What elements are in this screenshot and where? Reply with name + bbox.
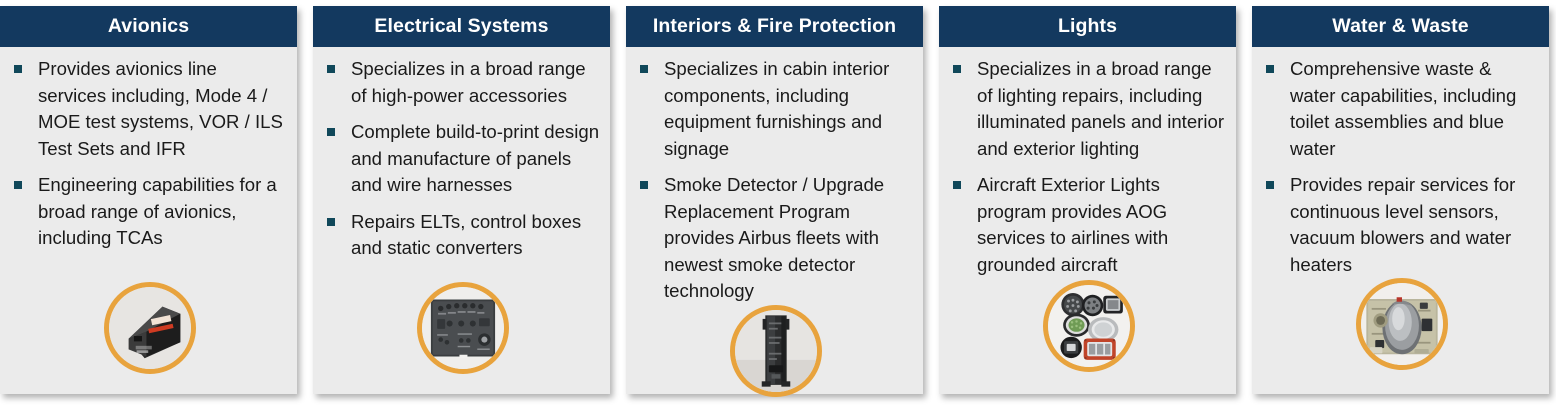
photo-clip bbox=[1048, 285, 1130, 367]
bullet-text: Complete build-to-print design and manuf… bbox=[351, 121, 599, 195]
bullet-text: Specializes in cabin interior components… bbox=[664, 58, 889, 159]
bullet-list: Specializes in a broad range of high-pow… bbox=[323, 56, 602, 262]
bullet-list: Specializes in a broad range of lighting… bbox=[949, 56, 1228, 278]
exterior-lights-illustration bbox=[1048, 285, 1130, 367]
card-photo-area bbox=[323, 282, 602, 394]
bullet-list: Specializes in cabin interior components… bbox=[636, 56, 915, 305]
bullet-text: Aircraft Exterior Lights program provide… bbox=[977, 174, 1168, 275]
square-bullet-icon bbox=[327, 65, 335, 73]
card-photo-area bbox=[10, 282, 289, 394]
photo-clip bbox=[109, 287, 191, 369]
vacuum-blower-illustration bbox=[1361, 283, 1443, 365]
square-bullet-icon bbox=[1266, 181, 1274, 189]
square-bullet-icon bbox=[327, 218, 335, 226]
square-bullet-icon bbox=[953, 65, 961, 73]
list-item: Repairs ELTs, control boxes and static c… bbox=[323, 209, 602, 262]
card-body-lights: Specializes in a broad range of lighting… bbox=[939, 47, 1236, 394]
bullet-text: Repairs ELTs, control boxes and static c… bbox=[351, 211, 581, 259]
card-body-interiors-fire-protection: Specializes in cabin interior components… bbox=[626, 47, 923, 417]
card-header-lights: Lights bbox=[939, 6, 1236, 47]
square-bullet-icon bbox=[14, 65, 22, 73]
bullet-text: Provides avionics line services includin… bbox=[38, 58, 283, 159]
smoke-detector-unit-photo bbox=[730, 305, 822, 397]
list-item: Specializes in a broad range of high-pow… bbox=[323, 56, 602, 109]
list-item: Complete build-to-print design and manuf… bbox=[323, 119, 602, 199]
card-photo-area bbox=[1262, 278, 1541, 394]
card-body-avionics: Provides avionics line services includin… bbox=[0, 47, 297, 394]
aircraft-exterior-lights-assortment-photo bbox=[1043, 280, 1135, 372]
card-title: Interiors & Fire Protection bbox=[653, 17, 896, 37]
capability-card-avionics: Avionics Provides avionics line services… bbox=[0, 6, 297, 394]
list-item: Comprehensive waste & water capabilities… bbox=[1262, 56, 1541, 162]
card-title: Avionics bbox=[108, 17, 189, 37]
square-bullet-icon bbox=[953, 181, 961, 189]
card-header-water-waste: Water & Waste bbox=[1252, 6, 1549, 47]
smoke-detector-illustration bbox=[735, 310, 817, 392]
square-bullet-icon bbox=[1266, 65, 1274, 73]
list-item: Smoke Detector / Upgrade Replacement Pro… bbox=[636, 172, 915, 305]
control-panel-illustration bbox=[422, 287, 504, 369]
capability-card-lights: Lights Specializes in a broad range of l… bbox=[939, 6, 1236, 394]
bullet-text: Comprehensive waste & water capabilities… bbox=[1290, 58, 1516, 159]
avionics-box-illustration bbox=[109, 287, 191, 369]
bullet-text: Engineering capabilities for a broad ran… bbox=[38, 174, 277, 248]
list-item: Provides repair services for continuous … bbox=[1262, 172, 1541, 278]
photo-clip bbox=[735, 310, 817, 392]
card-header-interiors-fire-protection: Interiors & Fire Protection bbox=[626, 6, 923, 47]
capability-card-interiors-fire-protection: Interiors & Fire Protection Specializes … bbox=[626, 6, 923, 394]
card-body-water-waste: Comprehensive waste & water capabilities… bbox=[1252, 47, 1549, 394]
card-header-electrical-systems: Electrical Systems bbox=[313, 6, 610, 47]
list-item: Specializes in cabin interior components… bbox=[636, 56, 915, 162]
card-photo-area bbox=[949, 280, 1228, 394]
list-item: Aircraft Exterior Lights program provide… bbox=[949, 172, 1228, 278]
bullet-text: Specializes in a broad range of lighting… bbox=[977, 58, 1224, 159]
card-title: Water & Waste bbox=[1332, 17, 1468, 37]
bullet-text: Specializes in a broad range of high-pow… bbox=[351, 58, 586, 106]
square-bullet-icon bbox=[640, 181, 648, 189]
capability-card-water-waste: Water & Waste Comprehensive waste & wate… bbox=[1252, 6, 1549, 394]
vacuum-blower-assembly-photo bbox=[1356, 278, 1448, 370]
list-item: Provides avionics line services includin… bbox=[10, 56, 289, 162]
square-bullet-icon bbox=[14, 181, 22, 189]
capability-card-electrical-systems: Electrical Systems Specializes in a broa… bbox=[313, 6, 610, 394]
list-item: Engineering capabilities for a broad ran… bbox=[10, 172, 289, 252]
list-item: Specializes in a broad range of lighting… bbox=[949, 56, 1228, 162]
card-title: Electrical Systems bbox=[374, 17, 548, 37]
square-bullet-icon bbox=[327, 128, 335, 136]
capability-cards-board: Avionics Provides avionics line services… bbox=[0, 0, 1556, 405]
photo-clip bbox=[422, 287, 504, 369]
card-photo-area bbox=[636, 305, 915, 417]
card-title: Lights bbox=[1058, 17, 1117, 37]
photo-clip bbox=[1361, 283, 1443, 365]
bullet-list: Provides avionics line services includin… bbox=[10, 56, 289, 252]
bullet-text: Smoke Detector / Upgrade Replacement Pro… bbox=[664, 174, 884, 301]
card-header-avionics: Avionics bbox=[0, 6, 297, 47]
avionics-black-line-replaceable-unit-photo bbox=[104, 282, 196, 374]
bullet-list: Comprehensive waste & water capabilities… bbox=[1262, 56, 1541, 278]
bullet-text: Provides repair services for continuous … bbox=[1290, 174, 1515, 275]
square-bullet-icon bbox=[640, 65, 648, 73]
electrical-control-panel-photo bbox=[417, 282, 509, 374]
card-body-electrical-systems: Specializes in a broad range of high-pow… bbox=[313, 47, 610, 394]
